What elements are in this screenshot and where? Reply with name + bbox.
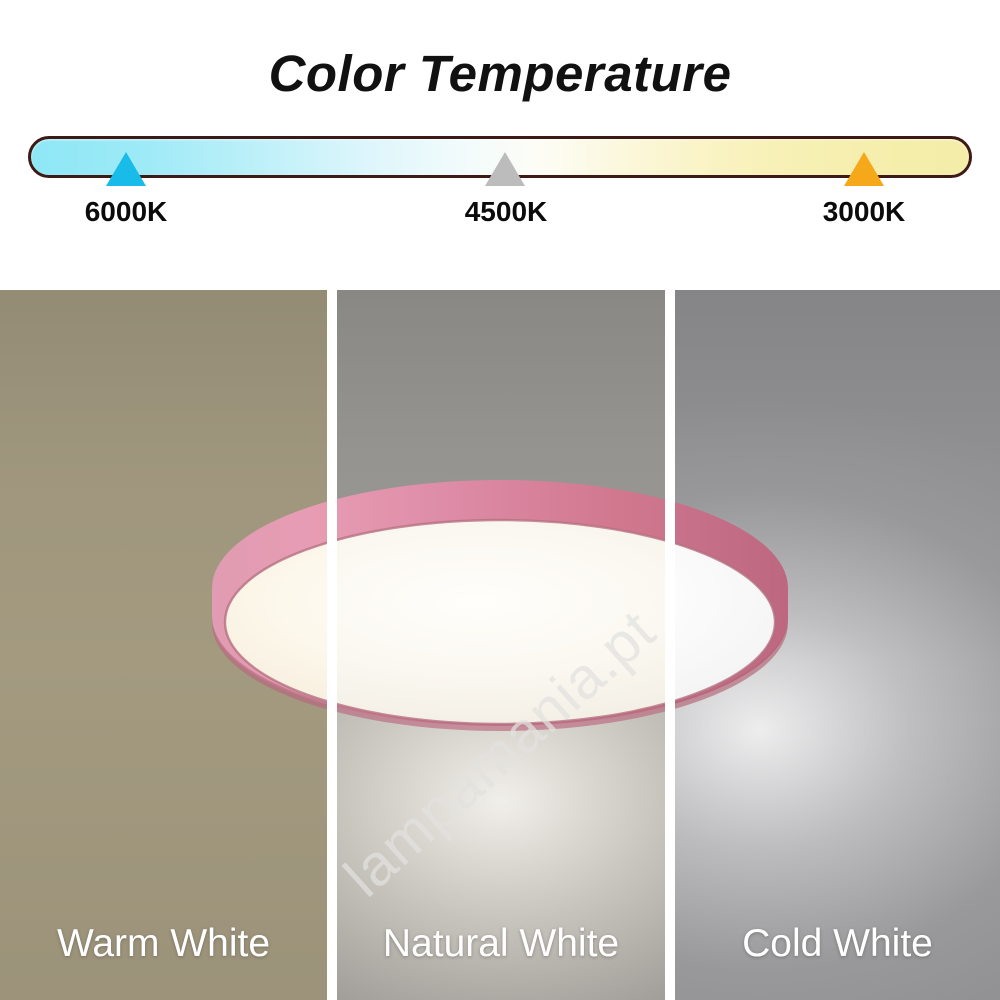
panel-natural-ceiling-shading: [337, 290, 665, 1000]
marker-4500k-icon: [485, 152, 525, 186]
marker-3000k-icon: [844, 152, 884, 186]
panel-warm-ceiling-shading: [0, 290, 327, 1000]
page-title: Color Temperature: [0, 44, 1000, 103]
comparison-panels: lampamania.pt Warm White: [0, 290, 1000, 1000]
panel-caption-cold-white: Cold White: [675, 922, 1000, 966]
scale-label-4500k: 4500K: [396, 196, 616, 228]
panel-natural-white: lampamania.pt Natural White: [337, 290, 665, 1000]
scale-label-6000k: 6000K: [16, 196, 236, 228]
panel-caption-warm-white: Warm White: [0, 922, 327, 966]
panel-warm-white: lampamania.pt Warm White: [0, 290, 327, 1000]
panel-cold-ceiling-shading: [675, 290, 1000, 1000]
scale-label-3000k: 3000K: [754, 196, 974, 228]
marker-6000k-icon: [106, 152, 146, 186]
panel-cold-white: lampamania.pt Cold White: [675, 290, 1000, 1000]
product-image: Color Temperature 6000K 4500K 3000K: [0, 0, 1000, 1000]
header-section: Color Temperature 6000K 4500K 3000K: [0, 0, 1000, 290]
panel-caption-natural-white: Natural White: [337, 922, 665, 966]
